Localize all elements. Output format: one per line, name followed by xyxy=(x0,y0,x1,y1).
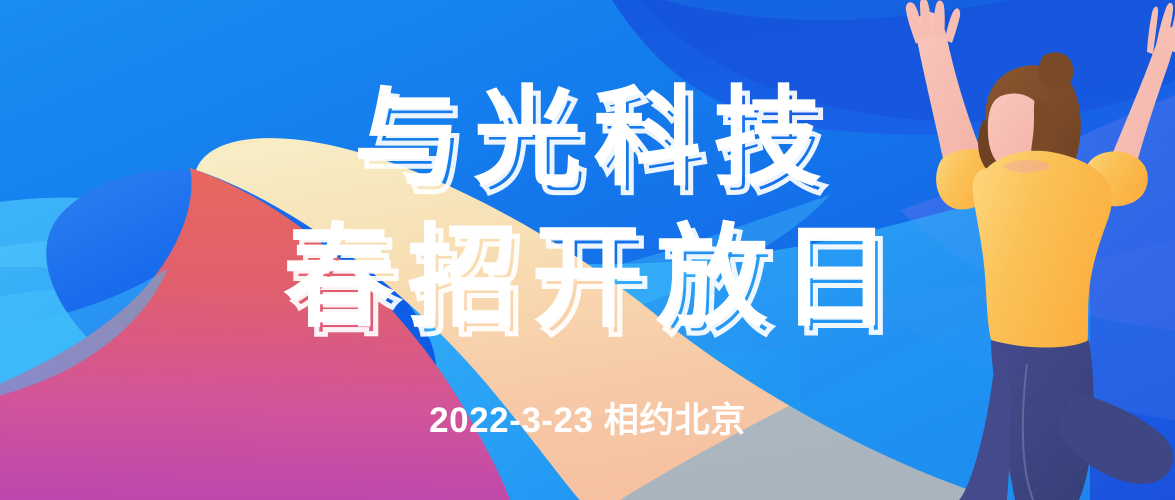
jumping-person-illustration xyxy=(875,0,1175,500)
promo-banner: 与光科技 与光科技 春招开放日 春招开放日 2022-3-23 相约北京 xyxy=(0,0,1175,500)
pants xyxy=(959,340,1173,500)
shirt xyxy=(973,151,1112,351)
